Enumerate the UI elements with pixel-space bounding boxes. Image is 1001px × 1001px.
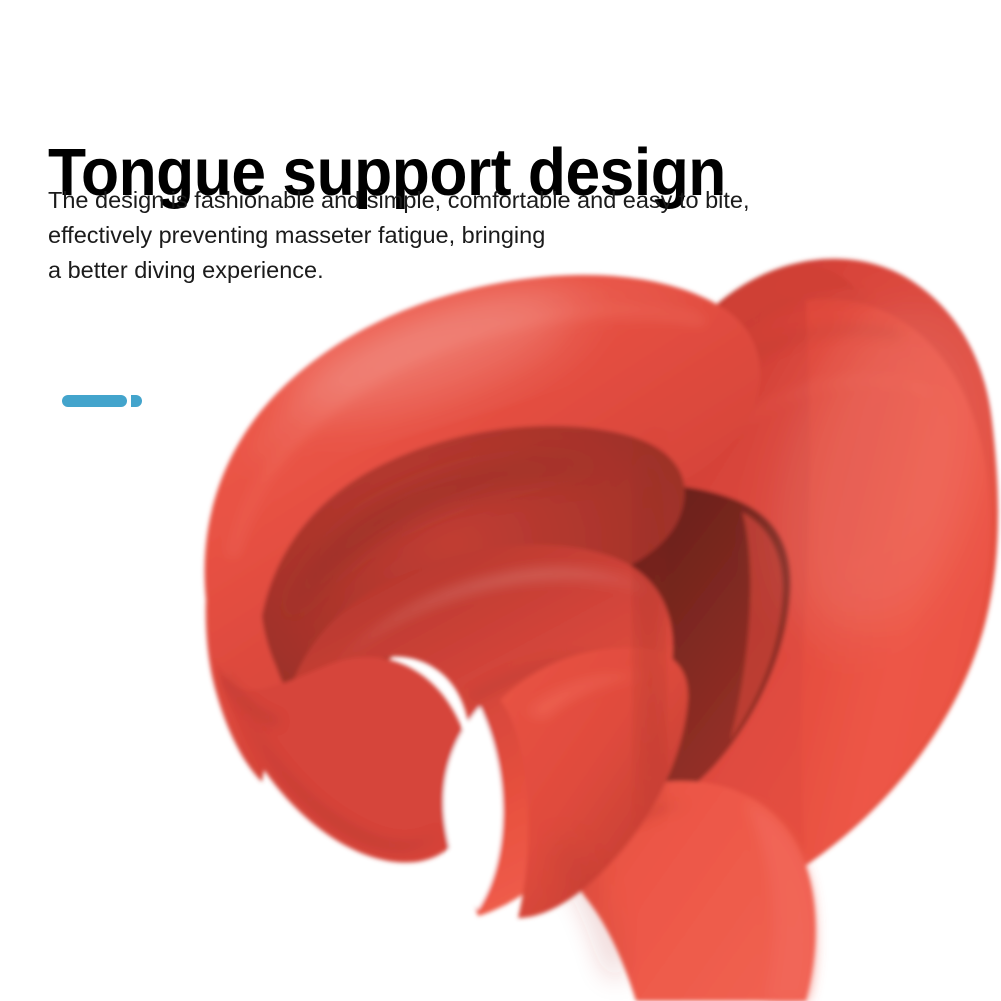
divider-bar (62, 395, 127, 407)
description-line-2: effectively preventing masseter fatigue,… (48, 218, 848, 253)
divider-cap-icon (131, 395, 142, 407)
description-line-3: a better diving experience. (48, 253, 848, 288)
description-text: The design is fashionable and simple, co… (48, 183, 848, 288)
blue-divider (62, 395, 144, 407)
product-feature-page: Tongue support design The design is fash… (0, 0, 1001, 1001)
description-line-1: The design is fashionable and simple, co… (48, 183, 848, 218)
